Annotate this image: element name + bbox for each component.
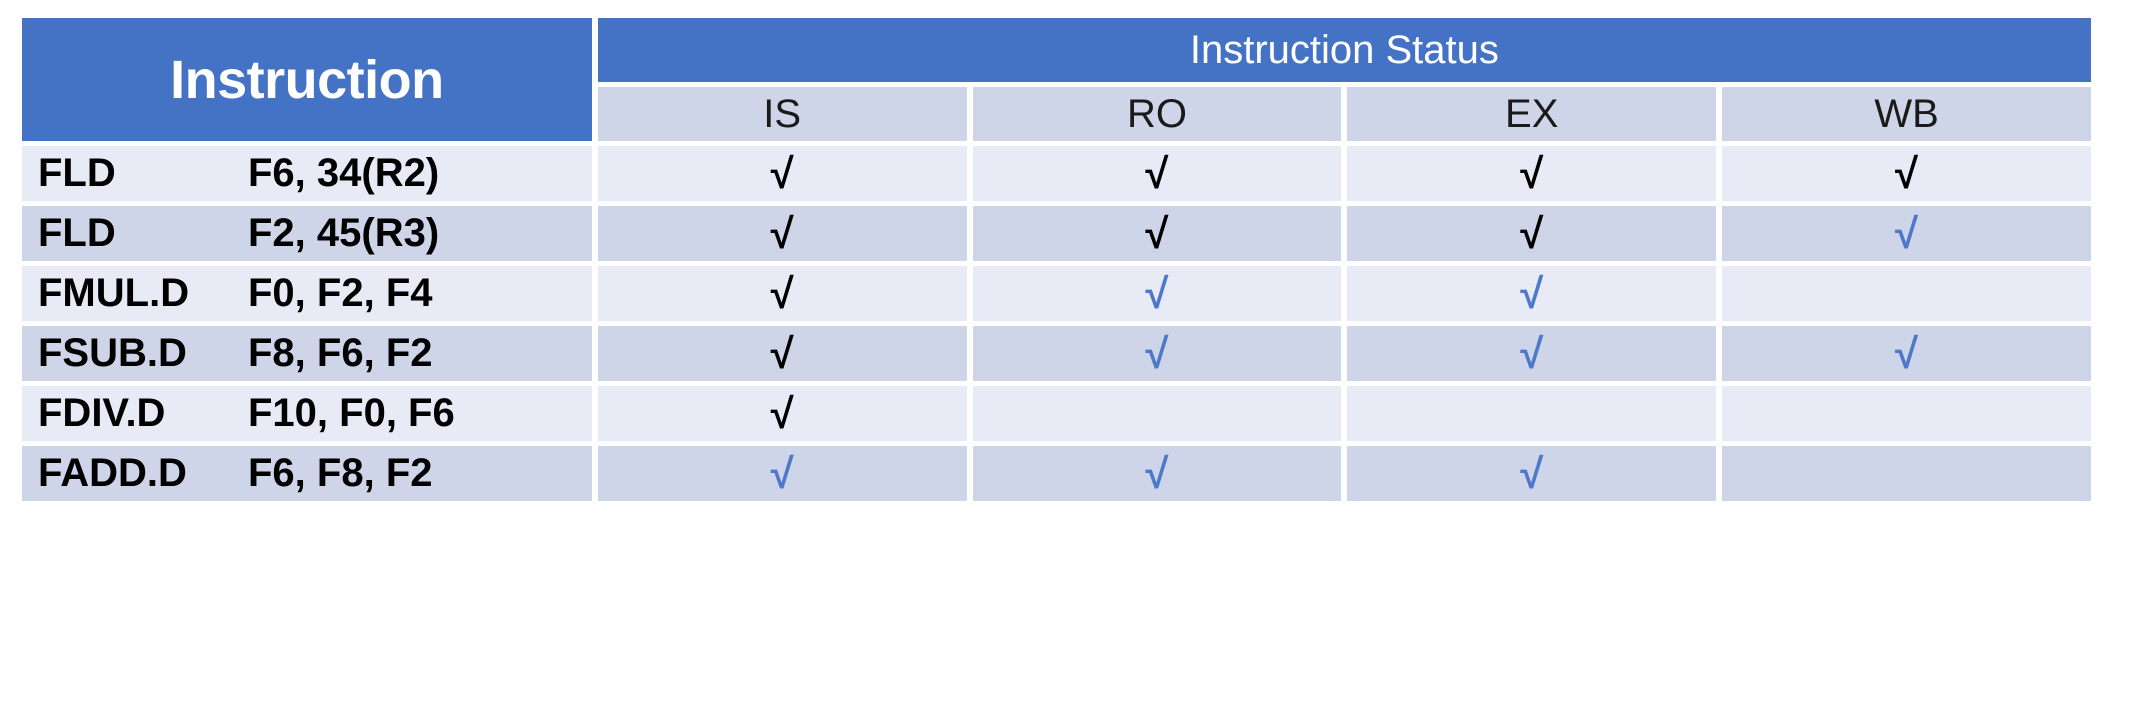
instruction-column-header: Instruction — [22, 18, 592, 141]
instruction-operands: F6, 34(R2) — [248, 151, 439, 196]
status-cell-is: √ — [598, 446, 967, 501]
status-cell-ex: √ — [1347, 266, 1716, 321]
table-body: FLDF6, 34(R2) √ √ √ √ FLDF2, 45(R3) √ √ … — [22, 146, 2091, 501]
table-header: Instruction Instruction Status IS RO EX … — [22, 18, 2091, 141]
instruction-operands: F8, F6, F2 — [248, 331, 433, 376]
status-cell-is: √ — [598, 326, 967, 381]
instruction-cell: FADD.DF6, F8, F2 — [22, 446, 592, 501]
status-cell-wb: √ — [1722, 326, 2091, 381]
instruction-mnemonic: FLD — [38, 151, 248, 196]
instruction-operands: F10, F0, F6 — [248, 391, 455, 436]
instruction-mnemonic: FSUB.D — [38, 331, 248, 376]
status-cell-ex: √ — [1347, 146, 1716, 201]
status-cell-ro: √ — [973, 266, 1342, 321]
status-cell-ex — [1347, 386, 1716, 441]
instruction-cell: FDIV.DF10, F0, F6 — [22, 386, 592, 441]
instruction-mnemonic: FDIV.D — [38, 391, 248, 436]
instruction-mnemonic: FMUL.D — [38, 271, 248, 316]
column-header-ex: EX — [1347, 87, 1716, 141]
status-cell-wb — [1722, 266, 2091, 321]
table-row: FSUB.DF8, F6, F2 √ √ √ √ — [22, 326, 2091, 381]
table-row: FLDF6, 34(R2) √ √ √ √ — [22, 146, 2091, 201]
table-row: FMUL.DF0, F2, F4 √ √ √ — [22, 266, 2091, 321]
status-cell-wb — [1722, 386, 2091, 441]
instruction-cell: FLDF2, 45(R3) — [22, 206, 592, 261]
status-cell-ro: √ — [973, 446, 1342, 501]
table-row: FLDF2, 45(R3) √ √ √ √ — [22, 206, 2091, 261]
instruction-status-group-header: Instruction Status — [598, 18, 2091, 82]
instruction-cell: FMUL.DF0, F2, F4 — [22, 266, 592, 321]
column-header-is: IS — [598, 87, 967, 141]
instruction-cell: FLDF6, 34(R2) — [22, 146, 592, 201]
table-row: FADD.DF6, F8, F2 √ √ √ — [22, 446, 2091, 501]
status-cell-is: √ — [598, 266, 967, 321]
instruction-mnemonic: FADD.D — [38, 451, 248, 496]
status-cell-wb: √ — [1722, 206, 2091, 261]
instruction-operands: F6, F8, F2 — [248, 451, 433, 496]
status-cell-is: √ — [598, 386, 967, 441]
column-header-ro: RO — [973, 87, 1342, 141]
instruction-status-table-container: Instruction Instruction Status IS RO EX … — [22, 18, 2103, 712]
status-cell-ex: √ — [1347, 206, 1716, 261]
status-cell-wb: √ — [1722, 146, 2091, 201]
status-cell-ro: √ — [973, 146, 1342, 201]
status-cell-ex: √ — [1347, 326, 1716, 381]
status-cell-ro: √ — [973, 206, 1342, 261]
instruction-operands: F0, F2, F4 — [248, 271, 433, 316]
instruction-status-table: Instruction Instruction Status IS RO EX … — [16, 13, 2097, 506]
status-cell-ro: √ — [973, 326, 1342, 381]
instruction-operands: F2, 45(R3) — [248, 211, 439, 256]
column-header-wb: WB — [1722, 87, 2091, 141]
instruction-mnemonic: FLD — [38, 211, 248, 256]
header-row-top: Instruction Instruction Status — [22, 18, 2091, 82]
table-row: FDIV.DF10, F0, F6 √ — [22, 386, 2091, 441]
status-cell-is: √ — [598, 146, 967, 201]
instruction-cell: FSUB.DF8, F6, F2 — [22, 326, 592, 381]
status-cell-is: √ — [598, 206, 967, 261]
status-cell-ex: √ — [1347, 446, 1716, 501]
status-cell-ro — [973, 386, 1342, 441]
status-cell-wb — [1722, 446, 2091, 501]
